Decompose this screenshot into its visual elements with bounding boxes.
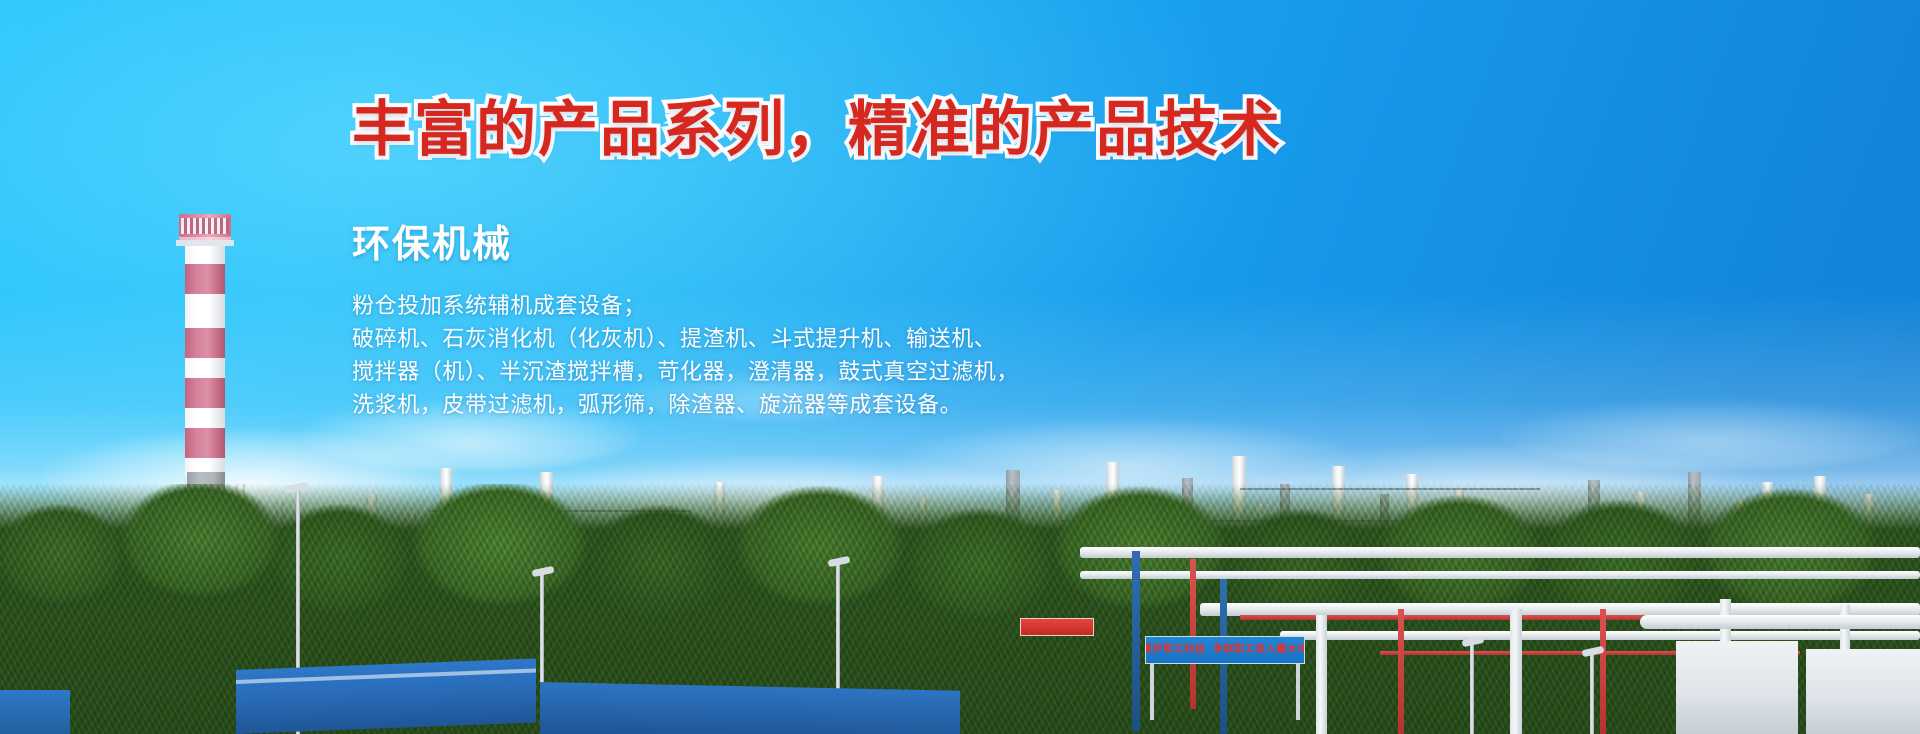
banner-body-line-4: 洗浆机，皮带过滤机，弧形筛，除渣器、旋流器等成套设备。 bbox=[352, 388, 1019, 421]
hero-banner: 爱护职工利益 争取职工收入最大化 丰富的产品系列，精准的产品技术 环保机械 粉仓… bbox=[0, 0, 1920, 734]
banner-headline: 丰富的产品系列，精准的产品技术 bbox=[352, 100, 1282, 160]
banner-body-line-1: 粉仓投加系统辅机成套设备； bbox=[352, 289, 1019, 322]
banner-body: 粉仓投加系统辅机成套设备； 破碎机、石灰消化机（化灰机）、提渣机、斗式提升机、输… bbox=[352, 289, 1019, 421]
banner-body-line-2: 破碎机、石灰消化机（化灰机）、提渣机、斗式提升机、输送机、 bbox=[352, 322, 1019, 355]
banner-body-line-3: 搅拌器（机）、半沉渣搅拌槽，苛化器，澄清器，鼓式真空过滤机， bbox=[352, 355, 1019, 388]
banner-copy: 丰富的产品系列，精准的产品技术 环保机械 粉仓投加系统辅机成套设备； 破碎机、石… bbox=[0, 0, 1920, 734]
banner-subtitle: 环保机械 bbox=[352, 226, 512, 264]
